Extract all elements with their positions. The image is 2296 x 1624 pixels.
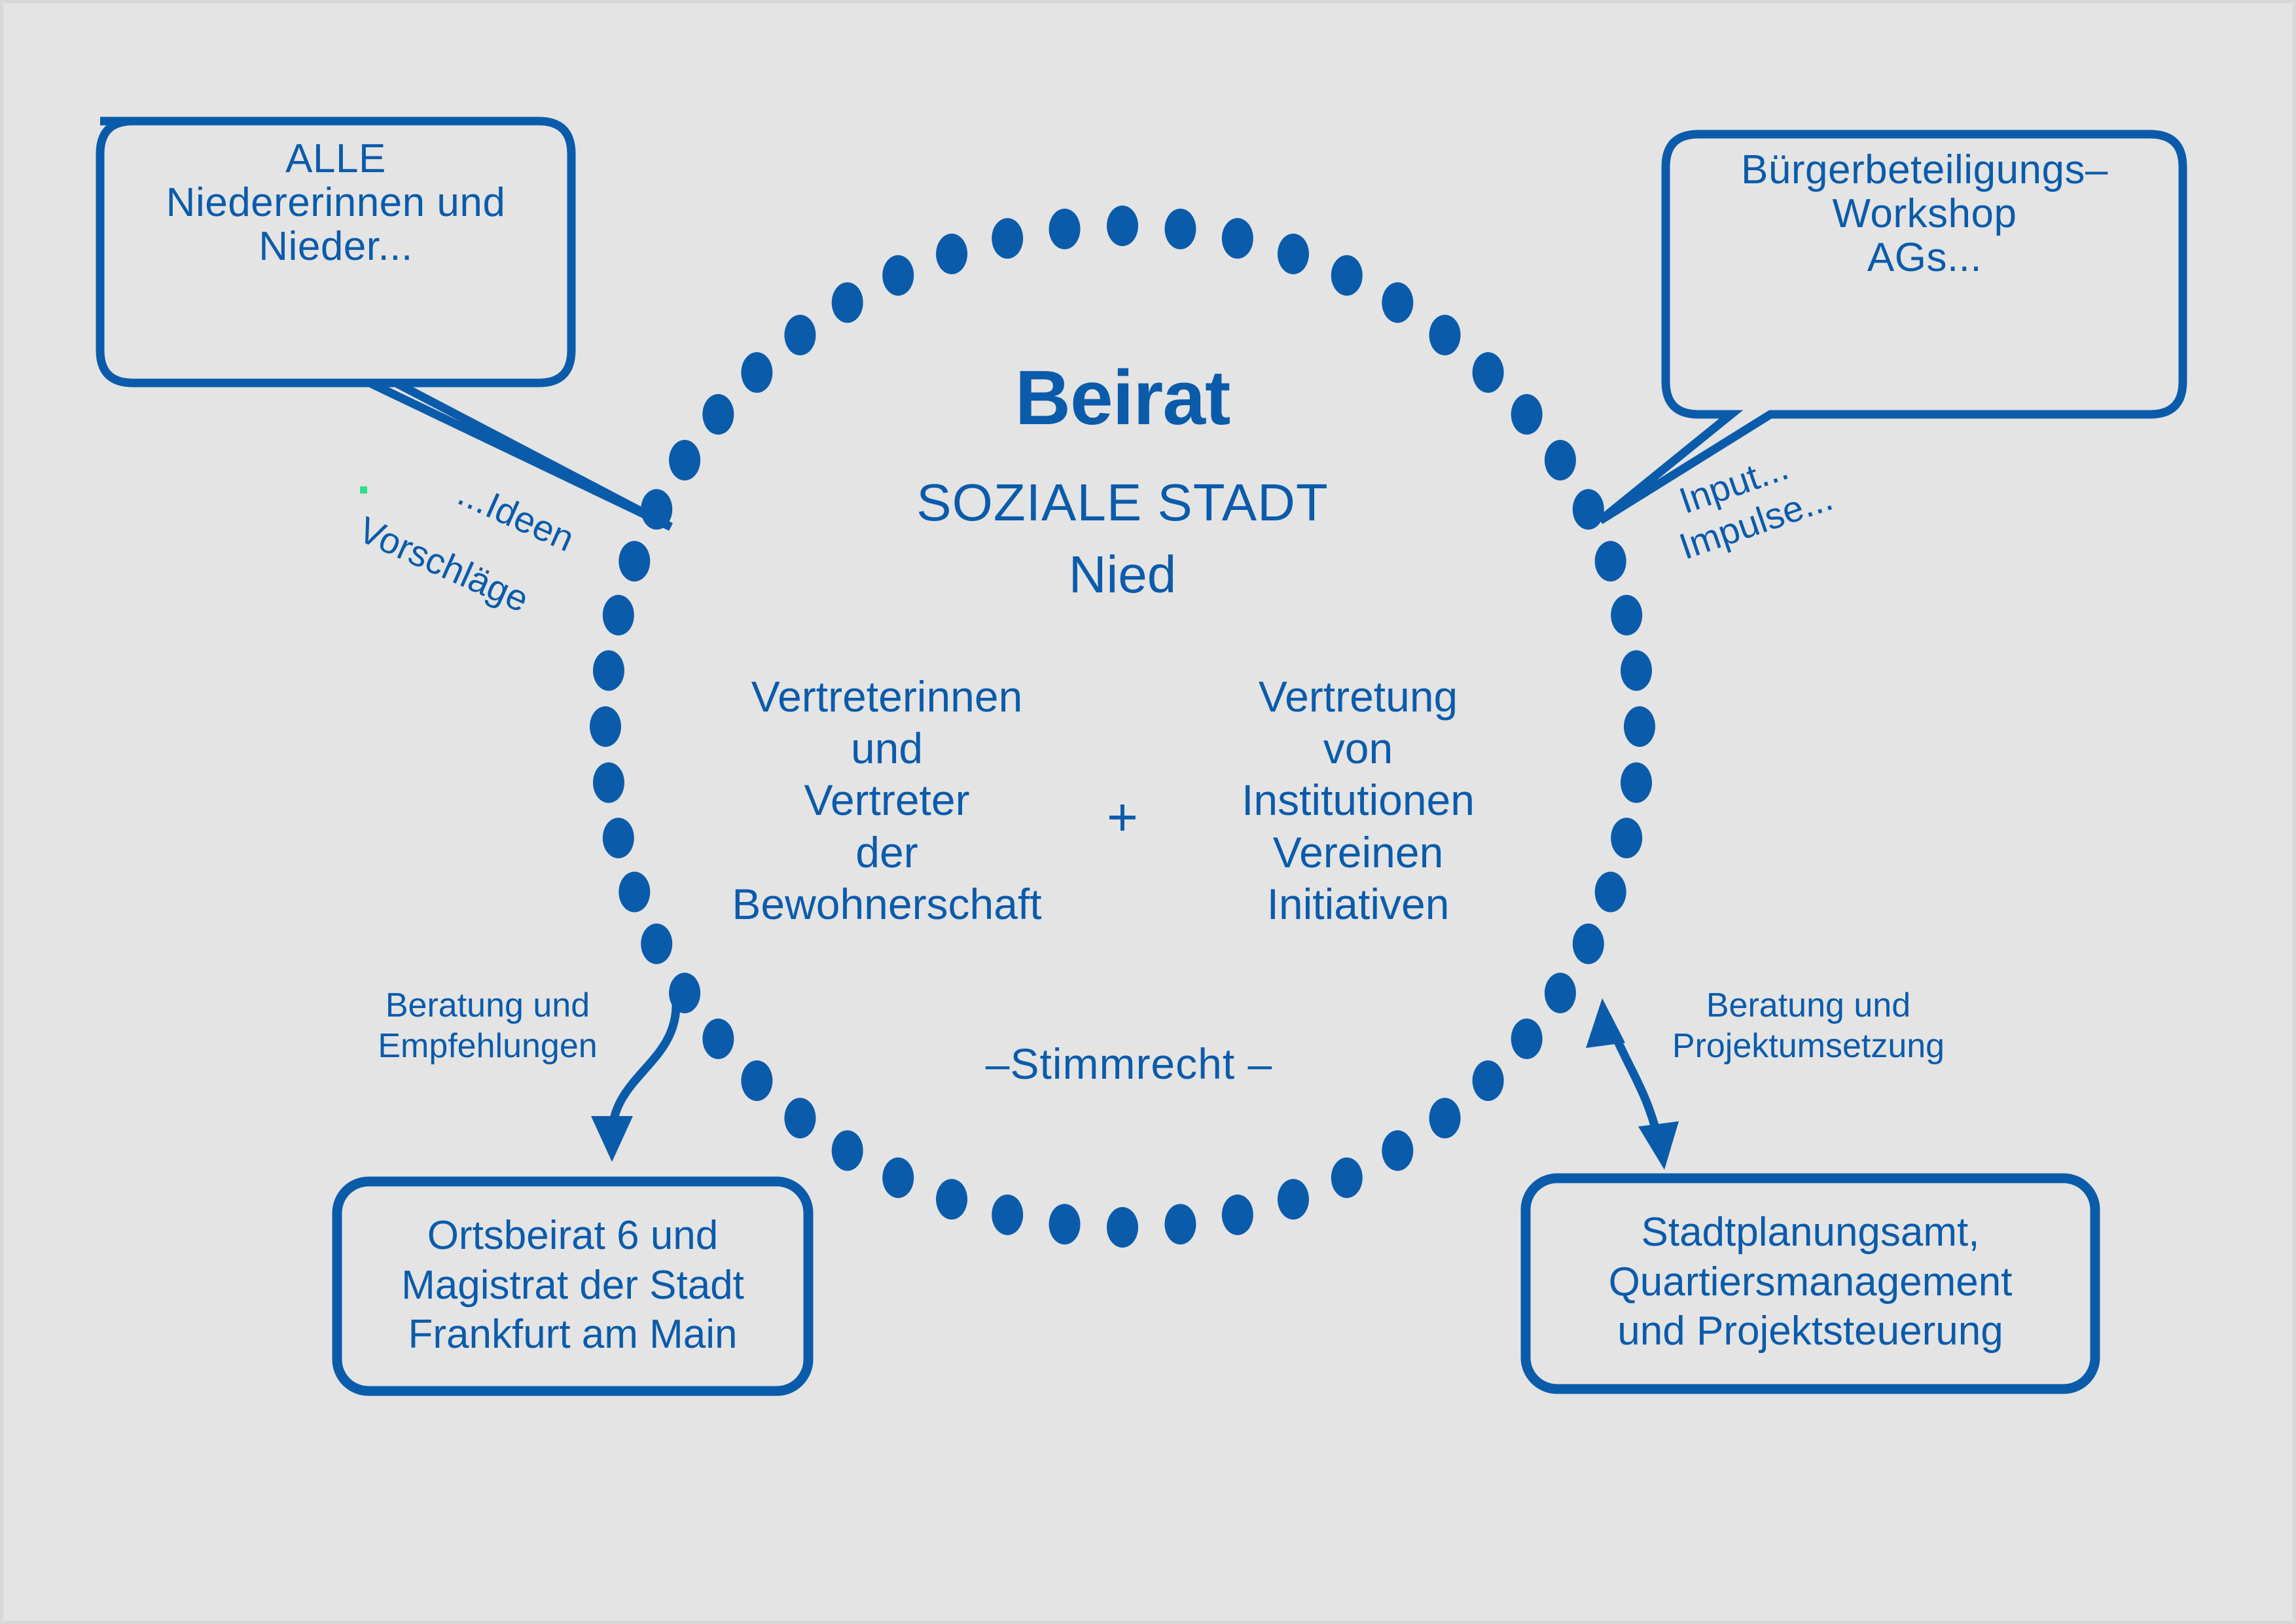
- ring-dot: [1545, 973, 1576, 1013]
- arrow-beratung-empfehlungen: [591, 1005, 676, 1162]
- ring-dot: [1049, 1204, 1081, 1244]
- ring-dot: [784, 315, 816, 355]
- ring-dot: [669, 440, 700, 480]
- ring-dot: [702, 394, 734, 435]
- arrow-beratung-projektumsetzung: [1586, 998, 1679, 1170]
- ring-dot: [882, 255, 914, 296]
- ring-dot: [1278, 1179, 1309, 1219]
- ring-dot: [593, 650, 624, 691]
- ring-dot: [641, 924, 672, 964]
- ring-dot: [1573, 924, 1604, 964]
- ring-dot: [603, 818, 634, 858]
- ring-dot: [702, 1019, 734, 1059]
- bubble-top-left-shape[interactable]: [100, 121, 671, 527]
- ring-dot: [1222, 1195, 1253, 1235]
- ring-dot: [603, 595, 634, 636]
- ring-dot: [1624, 706, 1655, 747]
- ring-dot: [1107, 1207, 1138, 1248]
- ring-dot: [1049, 209, 1081, 249]
- ring-dot: [992, 218, 1023, 259]
- ring-dot: [1331, 1157, 1363, 1198]
- ring-dot: [1164, 1204, 1196, 1244]
- ring-dot: [619, 541, 650, 581]
- diagram-vector-layer: [3, 3, 2296, 1624]
- ring-dot: [1429, 315, 1461, 355]
- ring-dot: [1107, 206, 1138, 246]
- ring-dot: [619, 872, 650, 912]
- ring-dot: [1429, 1098, 1461, 1138]
- ring-dot: [1621, 763, 1652, 803]
- ring-dot: [832, 282, 863, 323]
- box-bottom-left-shape[interactable]: [337, 1182, 808, 1391]
- ring-dot: [1278, 234, 1309, 274]
- ring-dot: [1382, 1130, 1413, 1171]
- ring-dot: [1621, 650, 1652, 691]
- ring-dot: [882, 1157, 914, 1198]
- ring-dot: [590, 706, 621, 747]
- ring-dot: [1611, 595, 1642, 636]
- ring-dot: [1164, 209, 1196, 249]
- ring-dot: [936, 1179, 967, 1219]
- bubble-top-right-shape[interactable]: [1600, 134, 2183, 520]
- ring-dot: [1331, 255, 1363, 296]
- ring-dot: [1222, 218, 1253, 259]
- ring-dot: [593, 763, 624, 803]
- ring-dot: [1511, 1019, 1543, 1059]
- ring-dot: [1511, 394, 1543, 435]
- ring-dot: [1473, 1060, 1504, 1101]
- ring-dot: [741, 1060, 772, 1101]
- green-artifact-dot: [360, 486, 367, 494]
- ring-dot: [936, 234, 967, 274]
- ring-dot: [1595, 872, 1626, 912]
- ring-dot: [1611, 818, 1642, 858]
- ring-dot: [992, 1195, 1023, 1235]
- ring-dot: [832, 1130, 863, 1171]
- ring-dot: [1573, 489, 1604, 530]
- diagram-canvas: ALLE Niedererinnen und Nieder... Bürgerb…: [0, 0, 2296, 1624]
- dotted-circle-ring: [590, 206, 1655, 1248]
- ring-dot: [1382, 282, 1413, 323]
- box-bottom-right-shape[interactable]: [1526, 1178, 2095, 1389]
- ring-dot: [784, 1098, 816, 1138]
- ring-dot: [1595, 541, 1626, 581]
- ring-dot: [741, 352, 772, 393]
- ring-dot: [1545, 440, 1576, 480]
- ring-dot: [1473, 352, 1504, 393]
